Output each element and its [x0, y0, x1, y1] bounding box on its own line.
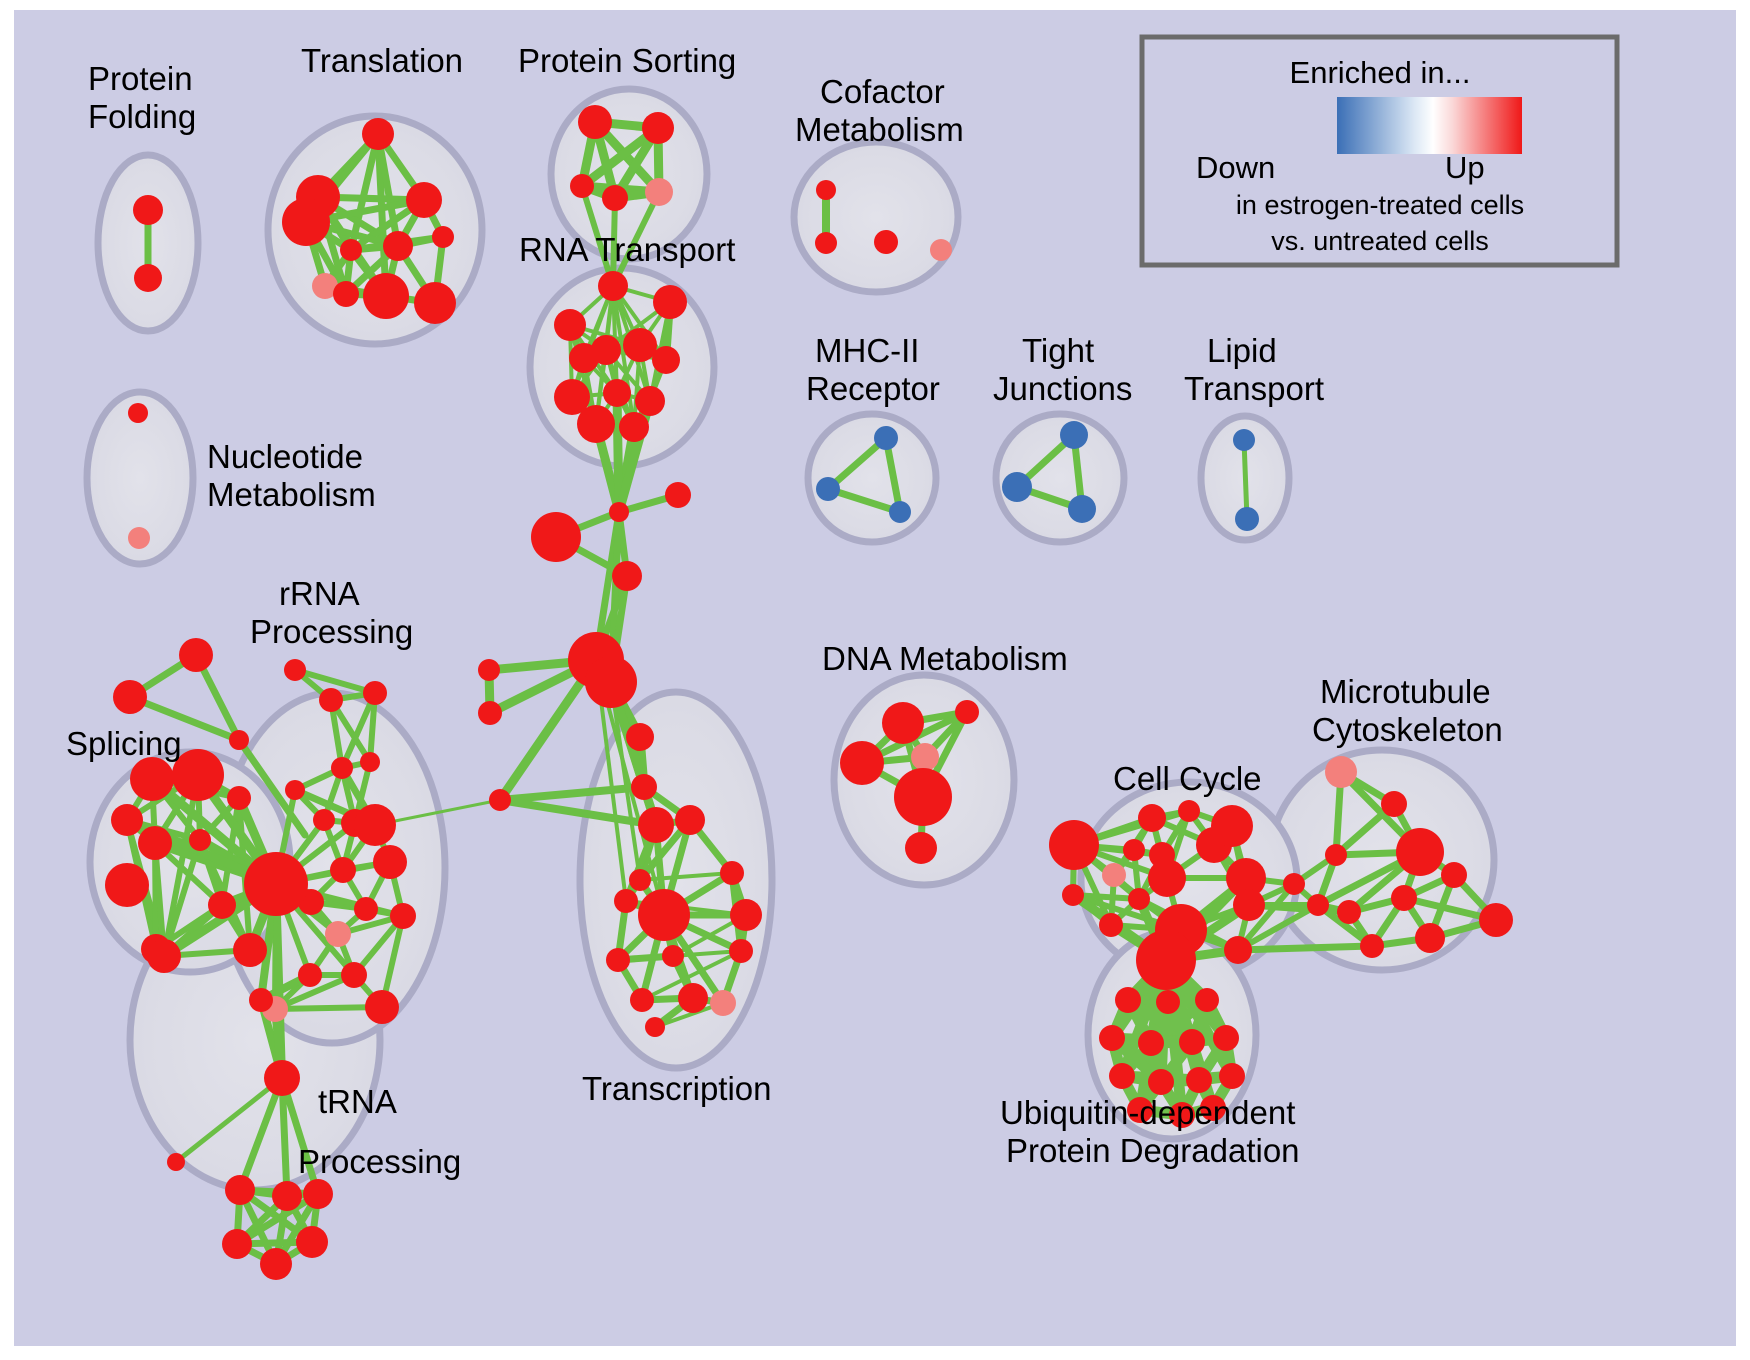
label-protein-folding: Protein: [88, 60, 193, 97]
label-tight-junctions: Tight: [1022, 332, 1094, 369]
figure-root: Protein Folding Translation Protein Sort…: [0, 0, 1750, 1360]
label-dna-metabolism: DNA Metabolism: [822, 640, 1068, 677]
label-microtubule-2: Cytoskeleton: [1312, 711, 1503, 748]
label-cell-cycle: Cell Cycle: [1113, 760, 1262, 797]
label-cofactor-metabolism: Cofactor: [820, 73, 945, 110]
label-translation: Translation: [301, 42, 463, 79]
label-mhc-ii-receptor: MHC-II: [815, 332, 919, 369]
label-ubiquitin: Ubiquitin-dependent: [1000, 1094, 1295, 1131]
label-trna-processing-2: Processing: [298, 1143, 461, 1180]
legend-down-label: Down: [1196, 150, 1275, 185]
label-splicing: Splicing: [66, 725, 182, 762]
label-mhc-ii-receptor-2: Receptor: [806, 370, 940, 407]
label-lipid-transport-2: Transport: [1184, 370, 1324, 407]
label-rrna-processing-2: Processing: [250, 613, 413, 650]
hull-cofactor-metabolism: [794, 142, 958, 292]
legend-title: Enriched in...: [1290, 55, 1471, 90]
label-nucleotide-metabolism: Nucleotide: [207, 438, 363, 475]
legend-up-label: Up: [1445, 150, 1485, 185]
label-microtubule: Microtubule: [1320, 673, 1491, 710]
label-nucleotide-metabolism-2: Metabolism: [207, 476, 376, 513]
label-cofactor-metabolism-2: Metabolism: [795, 111, 964, 148]
label-transcription: Transcription: [582, 1070, 772, 1107]
label-ubiquitin-2: Protein Degradation: [1006, 1132, 1300, 1169]
legend-subtitle-line1: in estrogen-treated cells: [1236, 190, 1524, 220]
label-protein-folding-2: Folding: [88, 98, 196, 135]
legend-box: Enriched in... Down Up in estrogen-treat…: [1142, 37, 1617, 265]
label-rna-transport: RNA Transport: [519, 231, 735, 268]
label-lipid-transport: Lipid: [1207, 332, 1277, 369]
legend-gradient-bar: [1337, 97, 1522, 154]
legend-subtitle-line2: vs. untreated cells: [1271, 226, 1489, 256]
label-rrna-processing: rRNA: [279, 575, 360, 612]
label-trna-processing: tRNA: [318, 1083, 397, 1120]
network-diagram: Protein Folding Translation Protein Sort…: [0, 0, 1750, 1360]
label-tight-junctions-2: Junctions: [993, 370, 1132, 407]
label-protein-sorting: Protein Sorting: [518, 42, 736, 79]
